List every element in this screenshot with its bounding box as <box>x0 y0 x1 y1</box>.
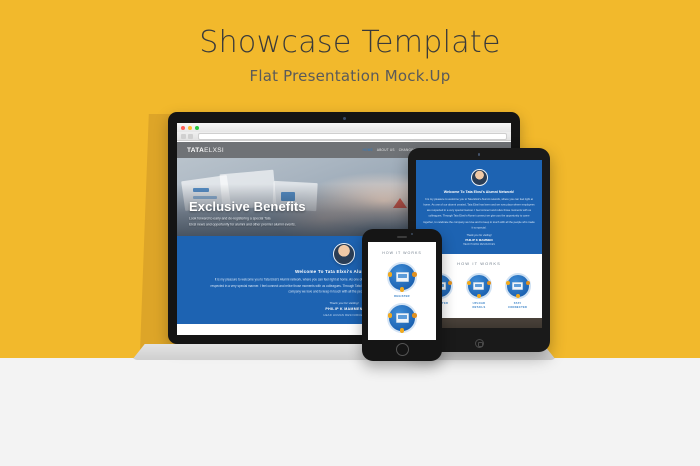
tablet-avatar <box>471 169 488 186</box>
background-gray-panel <box>0 358 700 466</box>
phone-step-register[interactable]: REGISTER <box>368 262 436 298</box>
step-stay-connected[interactable]: STAY CONNECTED <box>499 273 536 310</box>
nav-item-home[interactable]: HOME <box>363 148 373 153</box>
phone-speaker-icon <box>397 236 407 238</box>
url-input[interactable] <box>198 133 507 140</box>
close-icon[interactable] <box>181 126 185 130</box>
hero-subline-2: Elxsi news and opportunity for alumni an… <box>189 222 399 228</box>
logo-primary: TATA <box>187 147 204 154</box>
avatar <box>333 243 355 265</box>
tablet-camera-icon <box>478 153 481 156</box>
heading-block: Showcase Template Flat Presentation Mock… <box>0 26 700 85</box>
logo-secondary: ELXSI <box>204 147 224 154</box>
back-icon[interactable] <box>181 134 186 139</box>
page-subtitle: Flat Presentation Mock.Up <box>0 67 700 85</box>
phone-mockup: HOW IT WORKS REGISTER <box>362 229 442 361</box>
tablet-welcome-heading: Welcome To Tata Elxsi's Alumni Network! <box>423 190 535 194</box>
page-title: Showcase Template <box>0 26 700 59</box>
step-upload-label: UPLOAD DETAILS <box>460 302 497 310</box>
maximize-icon[interactable] <box>195 126 199 130</box>
window-controls[interactable] <box>181 126 199 130</box>
tablet-home-button[interactable] <box>475 339 484 348</box>
upload-details-icon <box>466 273 492 299</box>
step-upload-line2: DETAILS <box>472 306 485 309</box>
hero-headline: Exclusive Benefits <box>189 200 399 213</box>
browser-toolbar <box>177 132 511 141</box>
phone-camera-icon <box>411 233 413 235</box>
stay-connected-icon <box>505 273 531 299</box>
phone-upload-icon <box>387 303 417 333</box>
nav-item-about-us[interactable]: ABOUT US <box>377 148 395 153</box>
webcam-icon <box>343 117 346 120</box>
phone-body: HOW IT WORKS REGISTER <box>362 229 442 361</box>
tablet-welcome-body: It is my pleasure to welcome you to Tata… <box>423 196 535 230</box>
step-upload-line1: UPLOAD <box>473 302 486 305</box>
minimize-icon[interactable] <box>188 126 192 130</box>
mockup-stage: Showcase Template Flat Presentation Mock… <box>0 0 700 466</box>
phone-step-register-label: REGISTER <box>368 295 436 298</box>
step-stay-label: STAY CONNECTED <box>499 302 536 310</box>
step-stay-line2: CONNECTED <box>508 306 527 309</box>
step-upload-details[interactable]: UPLOAD DETAILS <box>460 273 497 310</box>
phone-screen: HOW IT WORKS REGISTER <box>368 242 436 340</box>
step-stay-line1: STAY <box>514 302 522 305</box>
phone-register-icon <box>387 262 417 292</box>
site-logo[interactable]: TATAELXSI <box>187 147 224 154</box>
phone-how-it-works-title: HOW IT WORKS <box>368 242 436 255</box>
hero-text-block: Exclusive Benefits Look forward to early… <box>189 200 399 227</box>
phone-step-upload[interactable] <box>368 303 436 333</box>
phone-home-button[interactable] <box>396 343 409 356</box>
forward-icon[interactable] <box>188 134 193 139</box>
